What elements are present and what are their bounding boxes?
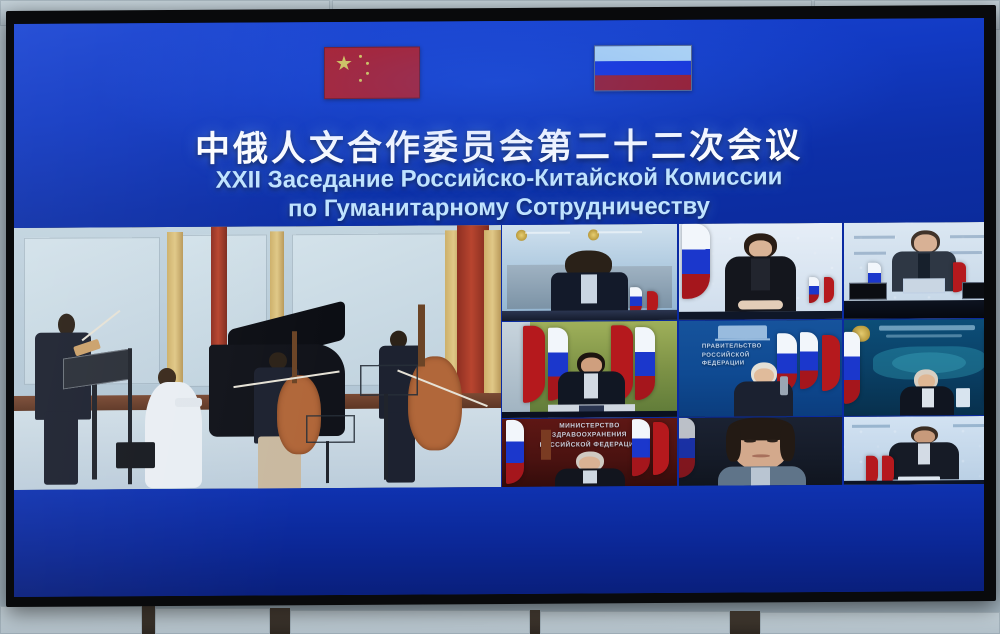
wall-panel bbox=[0, 606, 142, 634]
slide-title-russian-line2: по Гуманитарному Сотрудничеству bbox=[14, 191, 984, 225]
wall-panel bbox=[290, 610, 530, 634]
music-stand-pole bbox=[92, 379, 97, 479]
cello-neck bbox=[292, 331, 298, 383]
tile-delegate-government-backdrop[interactable]: ПРАВИТЕЛЬСТВО РОССИЙСКОЙ ФЕДЕРАЦИИ bbox=[679, 320, 842, 417]
tile-concert-quartet[interactable] bbox=[14, 225, 501, 490]
russia-flag-icon bbox=[594, 45, 692, 92]
china-flag-small-star bbox=[366, 72, 369, 75]
china-flag-icon: ★ bbox=[324, 46, 420, 99]
wall-panel bbox=[155, 608, 270, 634]
tile-delegate-flags-green-backdrop[interactable] bbox=[502, 321, 677, 418]
wall-panel bbox=[540, 611, 730, 634]
tile-delegate-closeup-woman[interactable] bbox=[679, 417, 842, 486]
tile-delegate-woman-dark-jacket[interactable] bbox=[679, 223, 842, 320]
wall-panel bbox=[760, 612, 1000, 634]
video-call-grid: ПРАВИТЕЛЬСТВО РОССИЙСКОЙ ФЕДЕРАЦИИ bbox=[14, 222, 984, 490]
music-stand-top bbox=[360, 364, 418, 396]
slide-lower-area bbox=[14, 484, 984, 597]
slide-title-russian-line1: XXII Заседание Российско-Китайской Комис… bbox=[14, 162, 984, 196]
double-bass-neck bbox=[418, 304, 424, 367]
tile-delegate-map-backdrop[interactable] bbox=[844, 319, 984, 416]
china-flag-big-star: ★ bbox=[335, 57, 353, 71]
china-flag-small-star bbox=[359, 55, 362, 58]
wall-seam bbox=[142, 606, 155, 634]
wall-seam bbox=[530, 610, 540, 634]
china-flag-small-star bbox=[359, 79, 362, 82]
piano-bench bbox=[116, 442, 155, 468]
music-stand-pole bbox=[326, 441, 329, 483]
music-stand-top bbox=[306, 415, 355, 444]
videowall-display[interactable]: ★ 中俄人文合作委员会第二十二次会议 XXII Заседание Россий… bbox=[6, 5, 996, 607]
display-screen: ★ 中俄人文合作委员会第二十二次会议 XXII Заседание Россий… bbox=[14, 18, 984, 597]
tile-delegate-health-ministry[interactable]: МИНИСТЕРСТВО ЗДРАВООХРАНЕНИЯ РОССИЙСКОЙ … bbox=[502, 418, 677, 487]
tile-delegate-emblem-wall[interactable] bbox=[844, 416, 984, 485]
flags-row: ★ bbox=[14, 43, 984, 109]
china-flag-small-star bbox=[366, 62, 369, 65]
tile-delegate-man-monitors[interactable] bbox=[844, 222, 984, 319]
tile-delegate-ministry-building[interactable] bbox=[502, 224, 677, 321]
slide-header: ★ 中俄人文合作委员会第二十二次会议 XXII Заседание Россий… bbox=[14, 18, 984, 228]
wall-seam bbox=[730, 611, 760, 634]
music-stand-pole bbox=[384, 393, 387, 479]
wall-seam bbox=[270, 608, 290, 634]
